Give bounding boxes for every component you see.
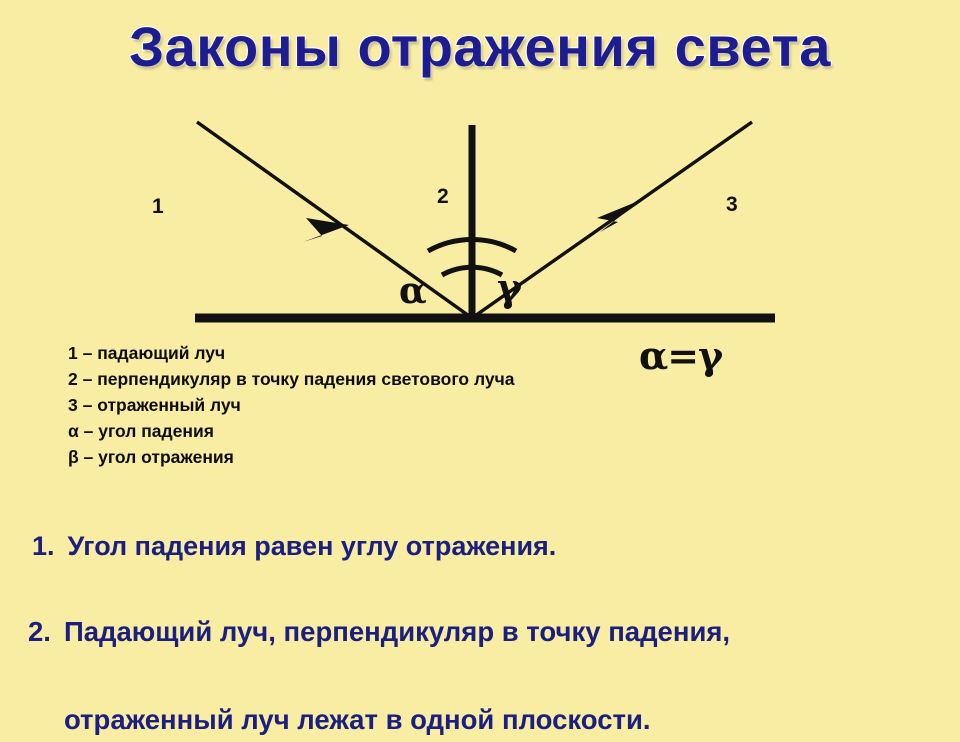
reflection-diagram-svg [0,90,960,340]
law-text-line: отраженный луч лежат в одной плоскости. [64,698,928,742]
law-text-line: Падающий луч, перпендикуляр в точку паде… [64,616,928,691]
normal-label: 2 [437,185,449,209]
law-number: 2. [28,610,51,654]
incident-ray-line [197,122,472,318]
page-title: Законы отражения света [0,14,960,80]
law-item: 2. Падающий луч, перпендикуляр в точку п… [28,610,928,742]
slide-canvas: Законы отражения света 1 2 3 α γ α=γ [0,0,960,720]
legend-item: α – угол падения [68,418,768,444]
angle-alpha-label: α [399,270,427,312]
legend-item: 1 – падающий луч [68,340,768,366]
reflected-ray-label: 3 [726,193,738,217]
legend-item: 3 – отраженный луч [68,392,768,418]
angle-gamma-label: γ [497,265,522,310]
law-item: 1. Угол падения равен углу отражения. [32,528,922,564]
incident-ray-label: 1 [152,195,164,219]
reflection-diagram: 1 2 3 α γ α=γ [0,90,960,340]
legend-item: β – угол отражения [68,444,768,470]
diagram-legend: 1 – падающий луч 2 – перпендикуляр в точ… [68,340,768,470]
laws-list: 1. Угол падения равен углу отражения. 2.… [0,520,960,720]
incident-ray-arrow-icon [303,218,349,242]
law-number: 1. [32,528,55,564]
law-text: Угол падения равен углу отражения. [68,528,922,564]
law-text: Падающий луч, перпендикуляр в точку паде… [64,610,928,742]
legend-item: 2 – перпендикуляр в точку падения светов… [68,366,768,392]
